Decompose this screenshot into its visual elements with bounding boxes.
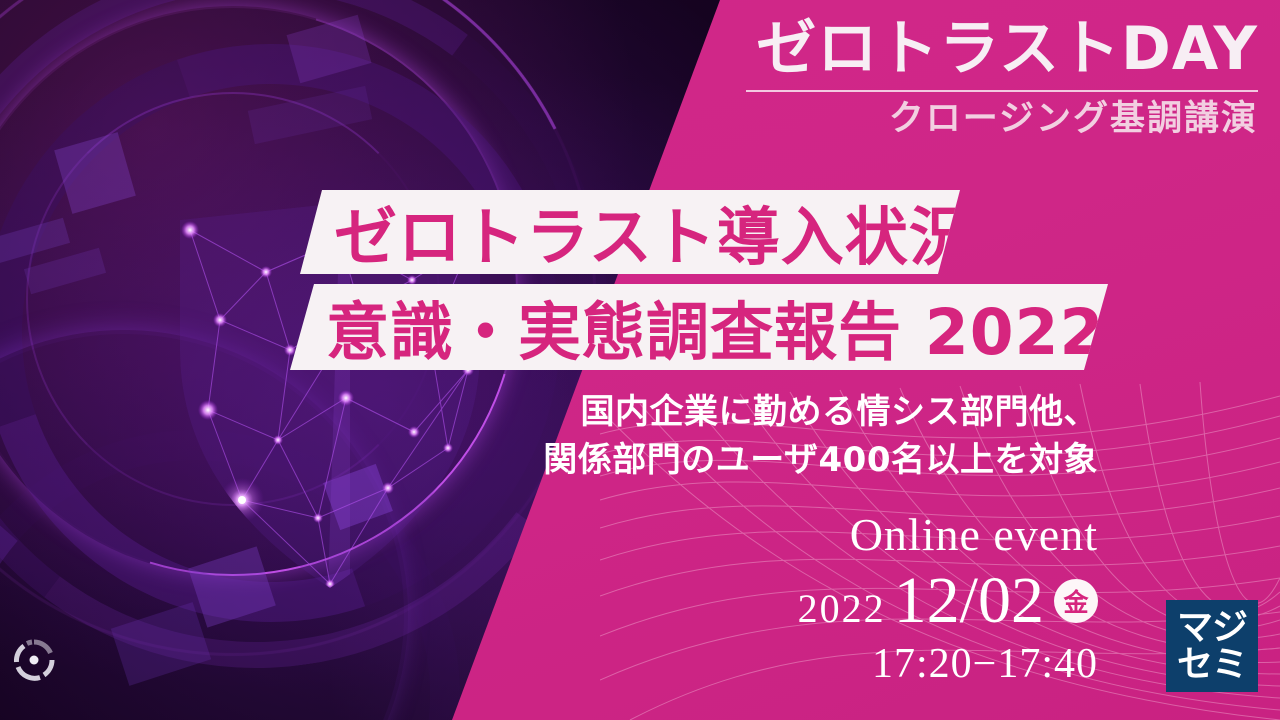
event-format-label: Online event: [798, 512, 1098, 558]
majiseminar-logo: マジ セミ: [1166, 600, 1258, 692]
day-of-week-badge: 金: [1054, 579, 1098, 623]
event-subtitle: クロージング基調講演: [0, 98, 1258, 140]
logo-line-1: マジ: [1177, 609, 1247, 646]
presentation-slide: ゼロトラストDAY クロージング基調講演 ゼロトラスト導入状況 意識・実態調査報…: [0, 0, 1280, 720]
event-time-range: 17:20−17:40: [798, 640, 1098, 688]
event-date: 2022 12/02 金: [798, 568, 1098, 634]
event-month-day: 12/02: [894, 568, 1044, 634]
logo-line-2: セミ: [1177, 646, 1247, 683]
event-title: ゼロトラストDAY: [0, 18, 1258, 80]
title-banner-secondary-text: 意識・実態調査報告 2022: [326, 282, 1104, 373]
title-banner-primary: ゼロトラスト導入状況: [300, 190, 960, 274]
title-banner-secondary: 意識・実態調査報告 2022: [290, 284, 1108, 370]
event-info: Online event 2022 12/02 金 17:20−17:40: [798, 512, 1098, 688]
survey-description-line-1: 国内企業に勤める情シス部門他、: [440, 388, 1098, 436]
event-year: 2022: [798, 585, 886, 632]
dial-icon: [10, 636, 58, 684]
survey-description: 国内企業に勤める情シス部門他、 関係部門のユーザ400名以上を対象: [440, 388, 1140, 496]
header-divider: [746, 90, 1258, 92]
event-header: ゼロトラストDAY クロージング基調講演: [0, 18, 1280, 140]
survey-description-line-2: 関係部門のユーザ400名以上を対象: [440, 436, 1098, 484]
title-banner-primary-text: ゼロトラスト導入状況: [334, 187, 973, 278]
